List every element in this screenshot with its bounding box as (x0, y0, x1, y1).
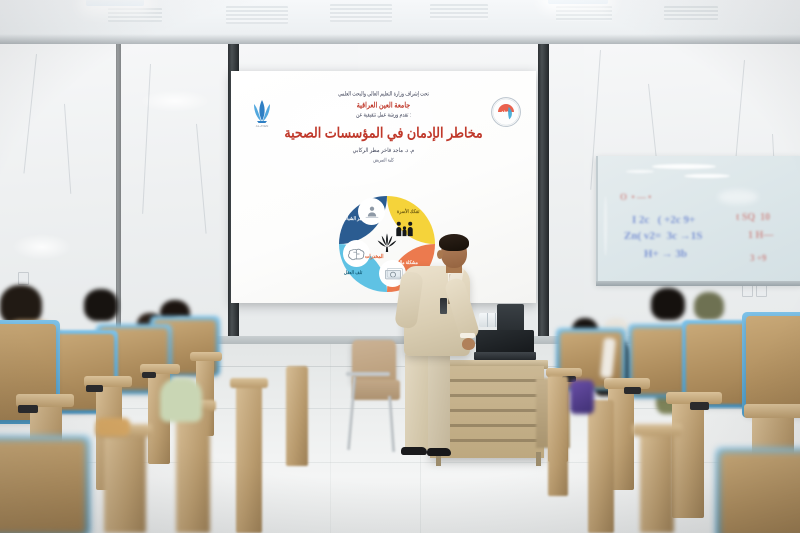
seat-side-panel (588, 400, 614, 533)
ceiling-light (548, 0, 608, 4)
attendee-head (84, 289, 118, 321)
laptop-keyboard (474, 352, 536, 360)
presenter-shoe-left (401, 447, 427, 455)
seat-side-panel (236, 382, 262, 533)
ceiling-light (86, 0, 144, 6)
presenter-id-badge (440, 298, 447, 314)
slide-text-block: تحت إشراف وزارة التعليم العالي والبحث ال… (231, 71, 536, 162)
attendee-head (651, 288, 685, 320)
presenter-ear (437, 250, 443, 259)
presenter-shoe-right (427, 448, 451, 456)
slide-offers-line: تقدم ورشة عمل تثقيفية عن : (231, 111, 536, 119)
attendee-bag (570, 380, 594, 414)
lectern-leg (536, 452, 541, 466)
chair-seat-cushion (352, 380, 400, 400)
slide-presenter-affiliation: كلية التمريض (231, 156, 536, 162)
infographic-center-label: المخدرات (365, 253, 384, 260)
office-chair[interactable] (352, 340, 396, 384)
seat-side-panel (176, 406, 210, 533)
seat-armrest (744, 404, 800, 418)
seat-armrest (230, 378, 268, 388)
whiteboard: O • — • I 2c ( +2c 9+ Zn( v2= 3c →1S H+ … (596, 156, 800, 284)
slide-university-name: جامعة العين العراقية (231, 100, 536, 110)
seat-side-panel (286, 366, 308, 466)
ceiling (0, 0, 800, 46)
laptop (476, 330, 534, 354)
attendee-clothing (160, 378, 202, 422)
seat-side-panel (104, 430, 146, 533)
whiteboard-tray (596, 281, 800, 286)
seat-side-panel (640, 430, 674, 533)
seat-side-panel (548, 376, 568, 496)
slide-main-title: مخاطر الإدمان في المؤسسات الصحية (231, 124, 536, 141)
lecture-hall-photo: AL-AYEN AlY تحت إشراف وزارة التعليم العا… (0, 0, 800, 533)
seat-side-panel (672, 396, 704, 518)
wall-socket (18, 272, 29, 285)
attendee-head (694, 292, 724, 320)
slide-supervision-line: تحت إشراف وزارة التعليم العالي والبحث ال… (231, 90, 536, 98)
infographic-label-top-right: تفكك الأسرة (397, 208, 419, 215)
attendee-head (0, 285, 42, 325)
presenter-hand (462, 338, 475, 350)
projection-screen: AL-AYEN AlY تحت إشراف وزارة التعليم العا… (231, 71, 536, 303)
presenter-hair (439, 234, 469, 251)
seat-armrest (190, 352, 222, 361)
slide-presenter-name: م. د. ماجد فاخر مطر الركابي (231, 147, 536, 154)
seat-armrest (632, 424, 682, 436)
presenter-leg-left (405, 352, 429, 450)
infographic-label-bottom-left: تلف العقل (344, 269, 362, 276)
presenter-leg-right (428, 352, 450, 452)
wall-pillar (538, 44, 549, 344)
attendee-bag (96, 418, 130, 436)
infographic-label-top-left: تدمر الشباب (343, 215, 365, 222)
